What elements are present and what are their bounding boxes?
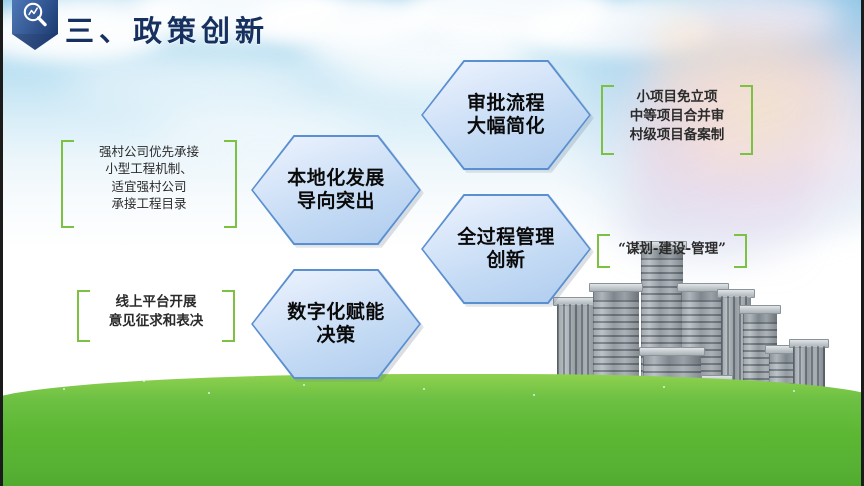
callout-village-company: 强村公司优先承接 小型工程机制、 适宜强村公司 承接工程目录 xyxy=(61,140,237,228)
magnifier-chart-icon xyxy=(20,0,50,30)
hexagon-label: 全过程管理 创新 xyxy=(457,226,555,272)
callout-online-platform: 线上平台开展 意见征求和表决 xyxy=(77,290,235,342)
banner-logo xyxy=(12,0,58,50)
cloud xyxy=(63,52,323,106)
hexagon-label: 本地化发展 导向突出 xyxy=(287,167,385,213)
grass-foreground xyxy=(3,336,861,486)
callout-text: “谋划-建设-管理” xyxy=(597,234,747,262)
callout-text: 小项目免立项 中等项目合并审 村级项目备案制 xyxy=(601,85,753,148)
callout-small-project: 小项目免立项 中等项目合并审 村级项目备案制 xyxy=(601,85,753,155)
hexagon-label: 数字化赋能 决策 xyxy=(287,301,385,347)
hexagon-label: 审批流程 大幅简化 xyxy=(467,92,545,138)
slide-canvas: 本地化发展 导向突出 审批流程 大幅简化 全过程管理 创新 数字化赋能 决策 强… xyxy=(0,0,864,486)
callout-plan-build-manage: “谋划-建设-管理” xyxy=(597,234,747,268)
callout-text: 线上平台开展 意见征求和表决 xyxy=(77,290,235,334)
callout-text: 强村公司优先承接 小型工程机制、 适宜强村公司 承接工程目录 xyxy=(61,140,237,215)
page-title: 三、政策创新 xyxy=(65,8,269,50)
